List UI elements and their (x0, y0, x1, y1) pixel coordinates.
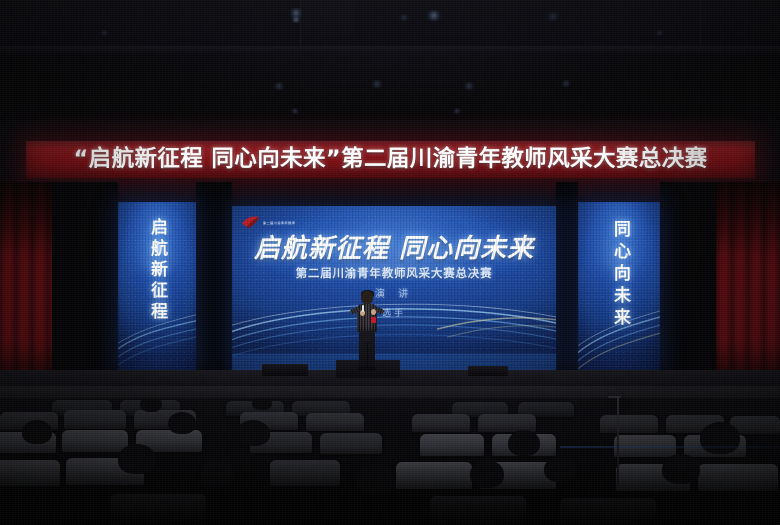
led-screen-main: 第二届川渝青年教师 启航新征程 同心向未来 第二届川渝青年教师风采大赛总决赛 演… (232, 206, 556, 370)
red-swoosh-icon (241, 215, 260, 230)
event-logo-text: 第二届川渝青年教师 (263, 220, 295, 225)
seat-back (420, 434, 484, 456)
ceiling-light (100, 30, 109, 36)
ceiling-lip (0, 46, 780, 54)
stage-curtain-left (0, 182, 52, 394)
seat-back (412, 414, 470, 432)
stage-riser-right (468, 366, 508, 376)
ceiling-soffit-right (355, 0, 701, 46)
audience-head (140, 398, 162, 412)
led-left-vertical-text: 启航新征程 (145, 218, 170, 323)
ceiling-soffit-left (0, 0, 301, 46)
audience-head (700, 422, 740, 454)
speaker-leg-gap (367, 343, 368, 368)
seat-back (62, 430, 128, 452)
speaker-shoes (358, 367, 376, 371)
event-banner-text: “启航新征程 同心向未来”第二届川渝青年教师风采大赛总决赛 (73, 148, 707, 171)
wall-mask-center-left (196, 182, 232, 397)
led-subtitle: 第二届川渝青年教师风采大赛总决赛 (232, 268, 556, 280)
audience-head (168, 412, 196, 434)
led-right-vertical-text: 同心向未来 (608, 220, 633, 330)
seat-back (600, 415, 658, 433)
ceiling-light (370, 80, 384, 88)
speaker-hand-right (371, 309, 376, 315)
wall-mask-center-right (556, 182, 578, 397)
aisle-rail (560, 446, 780, 448)
speaker-badge (371, 317, 376, 323)
stage-riser-left (262, 364, 308, 376)
ceiling-light (560, 80, 572, 87)
mic-stand (617, 398, 619, 486)
audience-foreground-shadow (0, 463, 780, 525)
ceiling-light (288, 8, 304, 18)
handheld-microphone-icon (362, 305, 364, 312)
led-panel-left: 启航新征程 (118, 202, 196, 370)
event-banner: “启航新征程 同心向未来”第二届川渝青年教师风采大赛总决赛 (26, 141, 755, 178)
ceiling-light (290, 108, 300, 114)
stage-photo-scene: “启航新征程 同心向未来”第二届川渝青年教师风采大赛总决赛 启航新征程 (0, 0, 780, 525)
led-line-three: 演 讲 (232, 290, 556, 300)
auditorium-ceiling (0, 0, 780, 132)
screen-wave-graphic (232, 295, 556, 370)
audience-head (22, 420, 52, 444)
ceiling-light (545, 12, 561, 21)
audience-head (236, 420, 270, 446)
led-headline: 启航新征程 同心向未来 (232, 236, 556, 262)
ceiling-light (398, 14, 410, 21)
ceiling-light (655, 30, 664, 36)
audience-seating (0, 398, 780, 525)
wall-mask-right (660, 182, 716, 397)
ceiling-light (425, 10, 443, 21)
audience-head (252, 398, 272, 410)
speaker-presenter (349, 291, 385, 377)
seat-back (306, 413, 364, 431)
seat-back (320, 433, 382, 454)
ceiling-light (452, 108, 462, 114)
audience-head (508, 430, 540, 456)
mic-stand-boom (608, 396, 621, 398)
ceiling-light (272, 82, 286, 90)
seat-back (64, 410, 126, 429)
event-logo: 第二届川渝青年教师 (241, 215, 295, 230)
led-panel-right: 同心向未来 (578, 202, 660, 370)
wall-mask-left (52, 182, 118, 397)
stage-curtain-right (716, 182, 780, 394)
ceiling-light (462, 82, 476, 90)
led-line-four: 选手 (232, 310, 556, 319)
